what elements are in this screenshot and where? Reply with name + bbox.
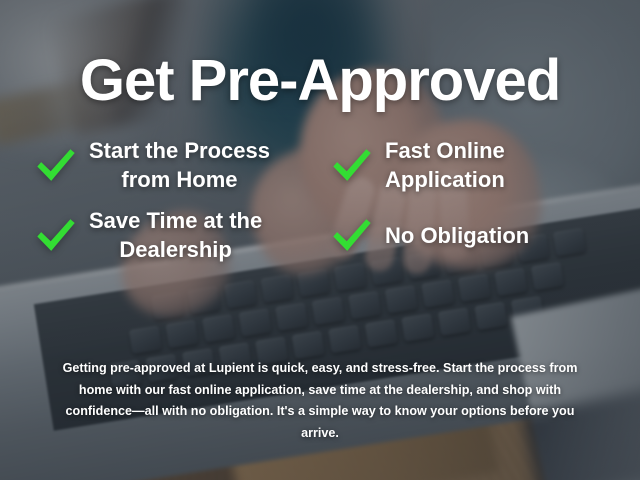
feature-label-line2: Dealership xyxy=(89,235,262,264)
check-icon xyxy=(329,212,375,258)
check-icon xyxy=(329,142,375,188)
check-icon xyxy=(33,142,79,188)
banner-content: Get Pre-Approved Start the Process from … xyxy=(0,0,640,480)
feature-label-line1: Start the Process xyxy=(89,136,270,165)
feature-item-no-obligation: No Obligation xyxy=(323,206,623,264)
feature-label: No Obligation xyxy=(385,221,529,250)
feature-label-line1: No Obligation xyxy=(385,221,529,250)
feature-label-line2: from Home xyxy=(89,165,270,194)
feature-label-line2: Application xyxy=(385,165,505,194)
feature-label: Fast Online Application xyxy=(385,136,505,194)
feature-label-line1: Save Time at the xyxy=(89,206,262,235)
description-paragraph: Getting pre-approved at Lupient is quick… xyxy=(46,358,594,445)
feature-item-save-time-at-the-dealership: Save Time at the Dealership xyxy=(17,206,323,264)
feature-label: Start the Process from Home xyxy=(89,136,270,194)
feature-item-start-the-process: Start the Process from Home xyxy=(17,136,323,194)
page-title: Get Pre-Approved xyxy=(80,52,560,110)
promo-banner: Get Pre-Approved Start the Process from … xyxy=(0,0,640,480)
feature-item-fast-online-application: Fast Online Application xyxy=(323,136,623,194)
feature-label-line1: Fast Online xyxy=(385,136,505,165)
check-icon xyxy=(33,212,79,258)
feature-list: Start the Process from Home Fast Online … xyxy=(17,136,623,264)
feature-label: Save Time at the Dealership xyxy=(89,206,262,264)
